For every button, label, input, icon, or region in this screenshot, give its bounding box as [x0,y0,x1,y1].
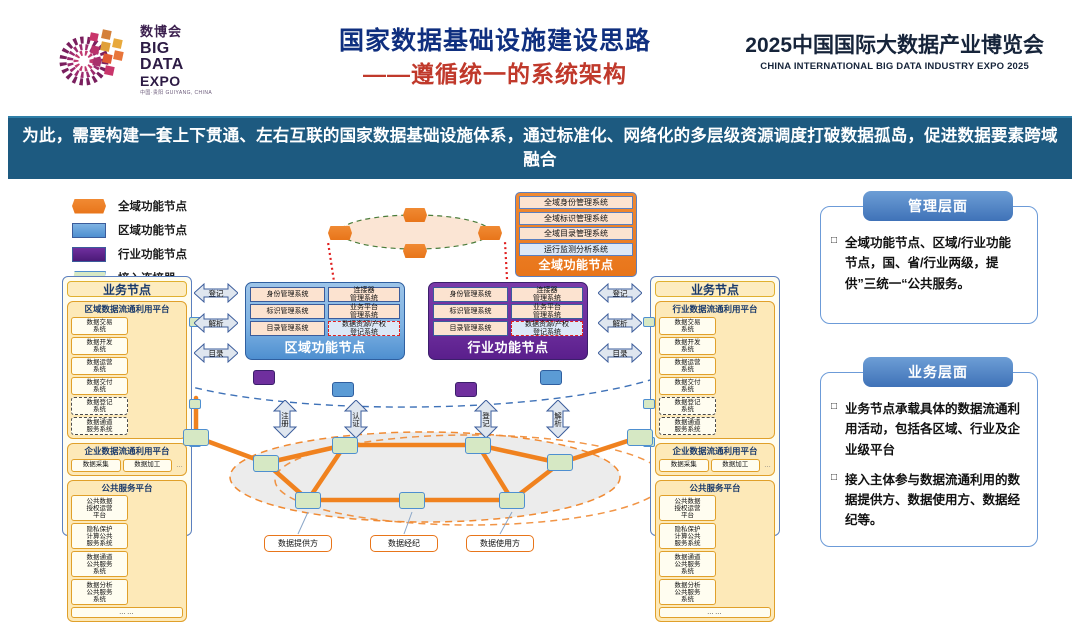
bullet-square-icon: □ [831,399,837,460]
expo-brand: 2025中国国际大数据产业博览会 CHINA INTERNATIONAL BIG… [745,34,1044,72]
arrow-label: 解析 [194,312,238,334]
title-line-1: 国家数据基础设施建设思路 [270,26,720,57]
brand-en: CHINA INTERNATIONAL BIG DATA INDUSTRY EX… [745,61,1044,72]
global-function-node[interactable]: 全域身份管理系统 全域标识管理系统 全域目录管理系统 运行监测分析系统 全域功能… [515,192,637,277]
industry-left-cell: 身份管理系统 [433,287,508,302]
expo-logo-text: 数博会 BIG DATA EXPO 中国·贵阳 GUIYANG, CHINA [140,21,218,96]
regional-function-node[interactable]: 身份管理系统 标识管理系统 目录管理系统 连接器管理系统 业务平台管理系统 数据… [245,282,405,360]
arrow-label: 解析 [545,400,571,438]
callout-text: 接入主体参与数据流通利用的数据提供方、数据使用方、数据经纪等。 [845,470,1023,531]
platform-cell: 数据交易系统 [659,317,716,335]
callout-text: 业务节点承载具体的数据流通利用活动，包括各区域、行业及企业级平台 [845,399,1023,460]
callout-business-layer: 业务层面 □ 业务节点承载具体的数据流通利用活动，包括各区域、行业及企业级平台 … [820,372,1038,547]
regional-right-cell: 业务平台管理系统 [328,304,400,319]
platform-cell: 公共数据授权运营平台 [659,495,716,521]
platform-title: 企业数据流通利用平台 [71,447,183,457]
connector-stub-icon [643,399,655,409]
connector-node [183,429,209,446]
regional-right-cell-highlight: 数据资源/产权登记系统 [328,321,400,336]
bullet-square-icon: □ [831,470,837,531]
platform-cell: 数据交易系统 [71,317,128,335]
platform-cell: 数据通道公共服务系统 [659,551,716,577]
callout-business-title: 业务层面 [863,357,1013,387]
logo-location: 中国·贵阳 GUIYANG, CHINA [140,91,218,96]
platform-cell: 数据登记系统 [71,397,128,415]
connector-stub-icon [189,399,201,409]
platform-industry: 行业数据流通利用平台 数据交易系统 数据开发系统 数据运营系统 数据交付系统 数… [655,301,775,439]
title-line-2: ——遵循统一的系统架构 [270,60,720,90]
connector-node [627,429,653,446]
logo-expo: EXPO [140,74,218,88]
platform-cell: 隐私保护计算公共服务系统 [659,523,716,549]
platform-ellipsis-row: …… [71,607,183,618]
arrow-v-authenticate: 认证 [343,400,369,438]
connector-node [295,492,321,509]
actor-data-provider[interactable]: 数据提供方 [264,535,332,552]
platform-cell: 数据采集 [659,459,709,472]
platform-public: 公共服务平台 公共数据授权运营平台 隐私保护计算公共服务系统 数据通道公共服务系… [67,480,187,622]
global-mesh-chip [328,226,352,240]
arc-chip-blue [540,370,562,385]
platform-cell: 隐私保护计算公共服务系统 [71,523,128,549]
page-title: 国家数据基础设施建设思路 ——遵循统一的系统架构 [270,26,720,90]
arrow-left-catalog: 目录 [194,342,238,364]
arc-chip-blue [332,382,354,397]
legend-swatch-global-icon [72,199,106,214]
global-node-item: 全域标识管理系统 [519,212,633,225]
connector-node [465,437,491,454]
arc-chip-purple [455,382,477,397]
callout-management-layer: 管理层面 □ 全域功能节点、区域/行业功能节点，国、省/行业两级，提供”三统一“… [820,206,1038,324]
summary-banner: 为此，需要构建一套上下贯通、左右互联的国家数据基础设施体系，通过标准化、网络化的… [8,116,1072,179]
legend-label: 区域功能节点 [118,222,187,238]
platform-cell: 公共数据授权运营平台 [71,495,128,521]
global-node-title: 全域功能节点 [519,256,633,273]
connector-node [499,492,525,509]
legend-label: 行业功能节点 [118,246,187,262]
slide-root: 数博会 BIG DATA EXPO 中国·贵阳 GUIYANG, CHINA 国… [0,0,1080,599]
arrow-label: 注册 [272,400,298,438]
arrow-right-register: 登记 [598,282,642,304]
platform-cell: 数据通道公共服务系统 [71,551,128,577]
industry-right-cell: 业务平台管理系统 [511,304,583,319]
platform-cell: 数据分析公共服务系统 [659,579,716,605]
connector-node [253,455,279,472]
legend-item: 行业功能节点 [72,244,187,264]
platform-cell: 数据加工 [711,459,761,472]
global-mesh-chip [403,208,427,222]
platform-public: 公共服务平台 公共数据授权运营平台 隐私保护计算公共服务系统 数据通道公共服务系… [655,480,775,622]
expo-logo-mark-icon [58,25,132,91]
arrow-v-register2: 登记 [473,400,499,438]
platform-cell: 数据交付系统 [71,377,128,395]
actor-data-broker[interactable]: 数据经纪 [370,535,438,552]
connector-node [332,437,358,454]
industry-right-cell: 连接器管理系统 [511,287,583,302]
platform-cell: 数据通道服务系统 [659,417,716,435]
arrow-right-catalog: 目录 [598,342,642,364]
regional-left-cell: 身份管理系统 [250,287,325,302]
arrow-label: 解析 [598,312,642,334]
actor-data-consumer[interactable]: 数据使用方 [466,535,534,552]
platform-ellipsis: … [762,462,771,469]
legend-item: 全域功能节点 [72,196,187,216]
industry-function-node[interactable]: 身份管理系统 标识管理系统 目录管理系统 连接器管理系统 业务平台管理系统 数据… [428,282,588,360]
platform-cell: 数据交付系统 [659,377,716,395]
platform-cell: 数据采集 [71,459,121,472]
legend-swatch-regional-icon [72,223,106,238]
callout-item: □ 全域功能节点、区域/行业功能节点，国、省/行业两级，提供”三统一“公共服务。 [831,233,1023,294]
platform-cell: 数据开发系统 [659,337,716,355]
platform-enterprise: 企业数据流通利用平台 数据采集 数据加工 … [67,443,187,476]
slide-header: 数博会 BIG DATA EXPO 中国·贵阳 GUIYANG, CHINA 国… [0,0,1080,110]
legend-item: 区域功能节点 [72,220,187,240]
platform-title: 企业数据流通利用平台 [659,447,771,457]
arc-chip-purple [253,370,275,385]
platform-cell: 数据开发系统 [71,337,128,355]
industry-left-cell: 目录管理系统 [433,321,508,336]
global-mesh-chip [403,244,427,258]
platform-title: 行业数据流通利用平台 [659,305,771,315]
platform-cell: 数据加工 [123,459,173,472]
legend-swatch-industry-icon [72,247,106,262]
expo-logo: 数博会 BIG DATA EXPO 中国·贵阳 GUIYANG, CHINA [58,22,218,94]
regional-left-cell: 目录管理系统 [250,321,325,336]
callout-item: □ 接入主体参与数据流通利用的数据提供方、数据使用方、数据经纪等。 [831,470,1023,531]
connector-node [547,454,573,471]
business-node-right[interactable]: 业务节点 行业数据流通利用平台 数据交易系统 数据开发系统 数据运营系统 数据交… [650,276,780,536]
arrow-label: 认证 [343,400,369,438]
industry-node-title: 行业功能节点 [433,337,583,355]
platform-title: 公共服务平台 [659,484,771,494]
bullet-square-icon: □ [831,233,837,294]
global-node-item: 全域目录管理系统 [519,227,633,240]
summary-banner-text: 为此，需要构建一套上下贯通、左右互联的国家数据基础设施体系，通过标准化、网络化的… [22,125,1058,173]
platform-ellipsis: … [174,462,183,469]
industry-left-cell: 标识管理系统 [433,304,508,319]
regional-left-cell: 标识管理系统 [250,304,325,319]
logo-bigdata: BIG DATA [140,41,218,73]
callout-text: 全域功能节点、区域/行业功能节点，国、省/行业两级，提供”三统一“公共服务。 [845,233,1023,294]
platform-cell: 数据分析公共服务系统 [71,579,128,605]
arrow-left-resolve: 解析 [194,312,238,334]
arrow-v-resolve: 解析 [545,400,571,438]
platform-regional: 区域数据流通利用平台 数据交易系统 数据开发系统 数据运营系统 数据交付系统 数… [67,301,187,439]
global-node-item: 运行监测分析系统 [519,243,633,256]
platform-cell: 数据通道服务系统 [71,417,128,435]
industry-right-cell-highlight: 数据资源/产权登记系统 [511,321,583,336]
regional-node-title: 区域功能节点 [250,337,400,355]
platform-cell: 数据运营系统 [659,357,716,375]
platform-cell: 数据运营系统 [71,357,128,375]
business-right-title: 业务节点 [655,281,775,297]
arrow-label: 登记 [598,282,642,304]
arrow-label: 目录 [598,342,642,364]
global-mesh-chip [478,226,502,240]
global-node-item: 全域身份管理系统 [519,196,633,209]
architecture-diagram: 全域功能节点 区域功能节点 行业功能节点 接入连接器 全域身份管理系统 全域标识… [0,182,1080,599]
arrow-v-register: 注册 [272,400,298,438]
brand-cn: 2025中国国际大数据产业博览会 [745,34,1044,57]
business-node-left[interactable]: 业务节点 区域数据流通利用平台 数据交易系统 数据开发系统 数据运营系统 数据交… [62,276,192,536]
callout-item: □ 业务节点承载具体的数据流通利用活动，包括各区域、行业及企业级平台 [831,399,1023,460]
platform-enterprise: 企业数据流通利用平台 数据采集 数据加工 … [655,443,775,476]
legend-label: 全域功能节点 [118,198,187,214]
callout-management-title: 管理层面 [863,191,1013,221]
regional-right-cell: 连接器管理系统 [328,287,400,302]
platform-cell: 数据登记系统 [659,397,716,415]
arrow-right-resolve: 解析 [598,312,642,334]
arrow-left-register: 登记 [194,282,238,304]
arrow-label: 登记 [194,282,238,304]
arrow-label: 目录 [194,342,238,364]
business-left-title: 业务节点 [67,281,187,297]
platform-title: 公共服务平台 [71,484,183,494]
platform-ellipsis-row: …… [659,607,771,618]
connector-stub-icon [643,317,655,327]
arrow-label: 登记 [473,400,499,438]
logo-cn: 数博会 [140,25,218,38]
connector-node [399,492,425,509]
platform-title: 区域数据流通利用平台 [71,305,183,315]
